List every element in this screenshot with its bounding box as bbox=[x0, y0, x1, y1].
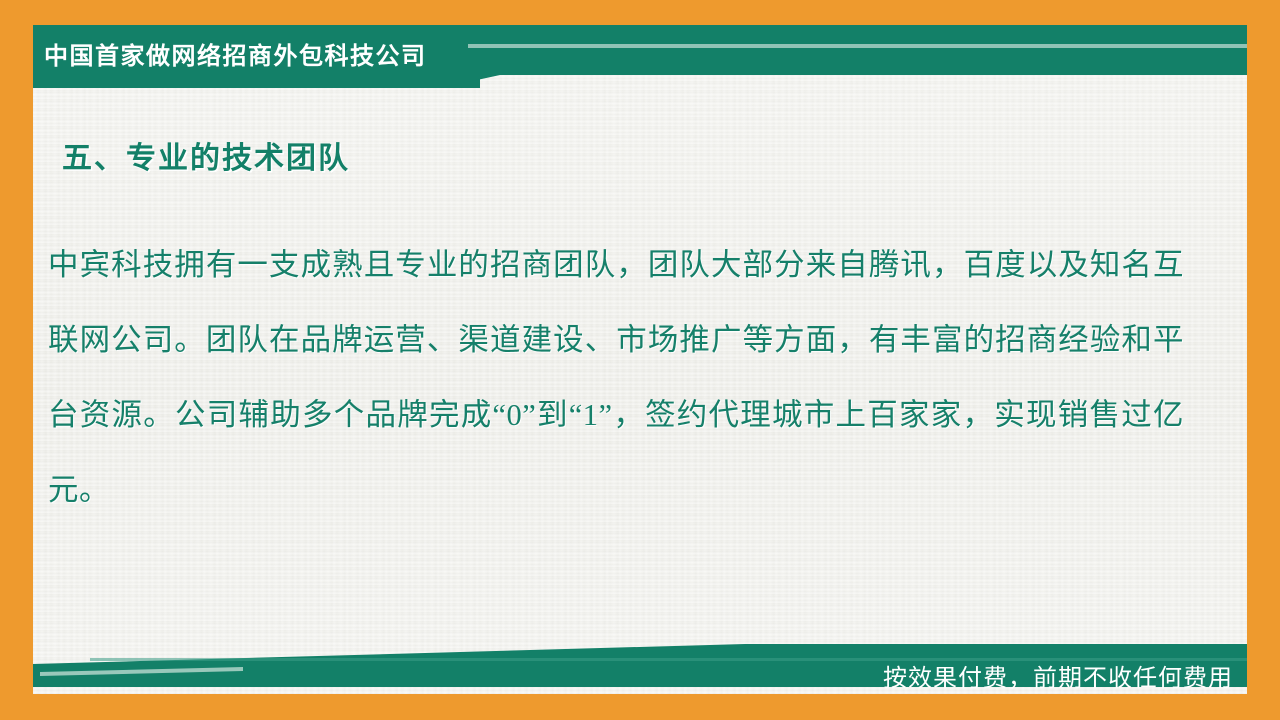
slide-root: 中国首家做网络招商外包科技公司 五、专业的技术团队 中宾科技拥有一支成熟且专业的… bbox=[0, 0, 1280, 720]
page-title: 五、专业的技术团队 bbox=[62, 133, 350, 177]
header-title: 中国首家做网络招商外包科技公司 bbox=[44, 35, 474, 71]
footer-tagline: 按效果付费，前期不收任何费用 bbox=[883, 658, 1233, 693]
body-paragraph: 中宾科技拥有一支成熟且专业的招商团队，团队大部分来自腾讯，百度以及知名互联网公司… bbox=[48, 228, 1184, 528]
